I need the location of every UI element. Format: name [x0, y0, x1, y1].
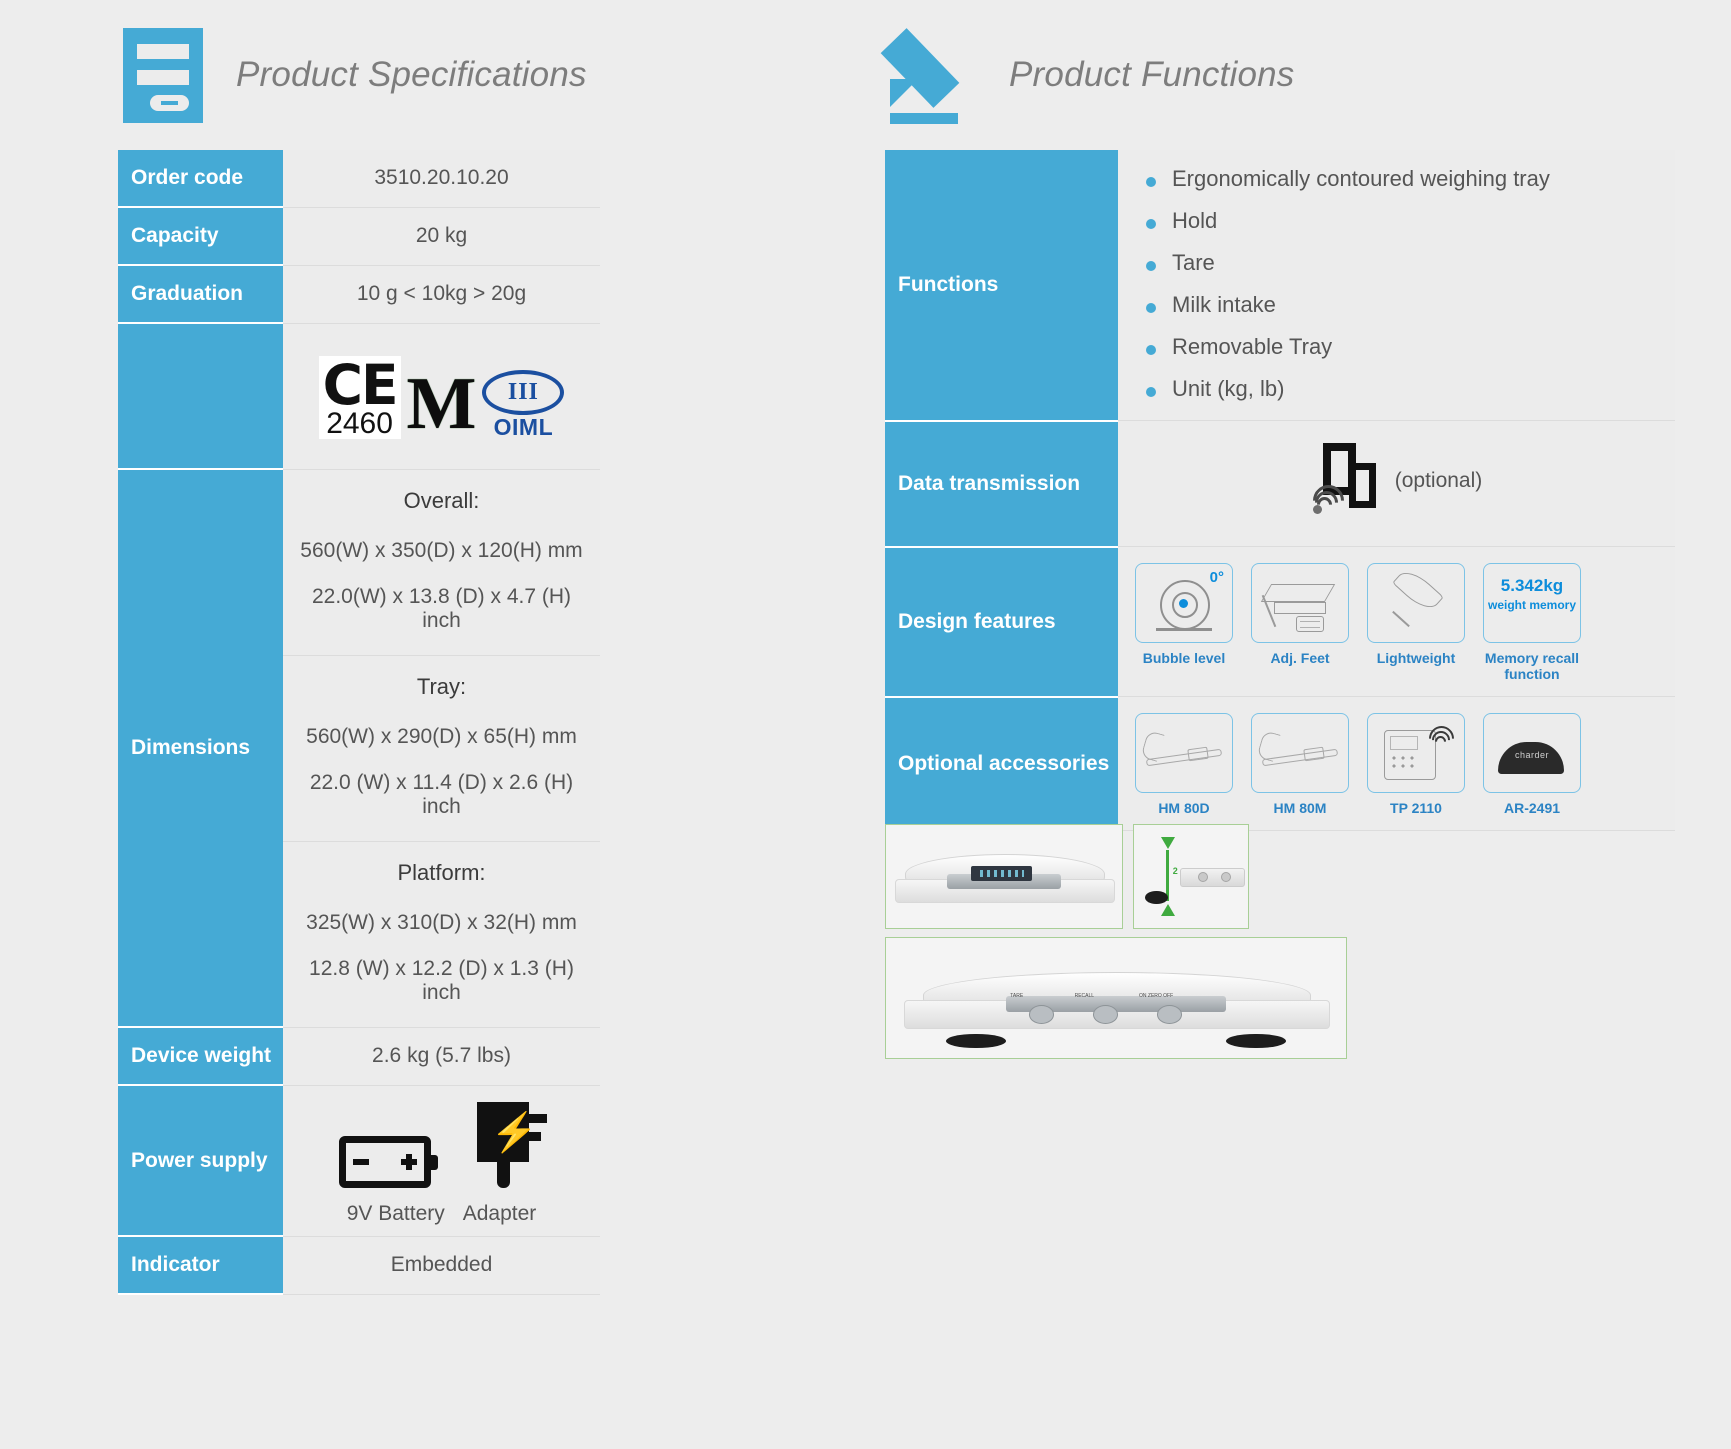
row-value-device-weight: 2.6 kg (5.7 lbs)	[283, 1027, 600, 1085]
row-value-capacity: 20 kg	[283, 207, 600, 265]
accessory-tp2110: TP 2110	[1364, 713, 1468, 816]
row-label-device-weight: Device weight	[118, 1027, 283, 1085]
table-row-functions: Functions Ergonomically contoured weighi…	[885, 150, 1675, 421]
functions-header: Product Functions	[885, 0, 1675, 150]
list-item: Ergonomically contoured weighing tray	[1138, 166, 1675, 192]
table-row-data-transmission: Data transmission (optional)	[885, 421, 1675, 547]
row-value-indicator: Embedded	[283, 1236, 600, 1294]
row-value-graduation: 10 g < 10kg > 20g	[283, 265, 600, 323]
memory-weight-sub: weight memory	[1484, 598, 1580, 613]
page-title: Product Specifications	[236, 55, 587, 95]
product-functions-panel: Product Functions Functions Ergonomicall…	[885, 0, 1675, 832]
row-label-functions: Functions	[885, 150, 1118, 421]
functions-title: Product Functions	[1009, 55, 1295, 95]
row-label-graduation: Graduation	[118, 265, 283, 323]
certification-marks-cell: CE 2460 M III OIML	[283, 323, 600, 469]
scale-side-view-photo	[885, 824, 1123, 929]
accessory-hm80d: HM 80D	[1132, 713, 1236, 816]
measuring-rod-icon	[1135, 713, 1233, 793]
button-label-tare: TARE	[1010, 993, 1023, 999]
data-transmission-cell: (optional)	[1118, 421, 1675, 547]
functions-list-cell: Ergonomically contoured weighing tray Ho…	[1118, 150, 1675, 421]
pen-edit-icon	[890, 28, 976, 123]
product-sheet-page: Product Specifications Order code 3510.2…	[0, 0, 1731, 1449]
bubble-level-icon: 0°	[1135, 563, 1233, 643]
design-feature-adjustable-feet: Adj. Feet	[1248, 563, 1352, 682]
device-spec-icon	[123, 28, 203, 123]
list-item: Hold	[1138, 208, 1675, 234]
row-label-data-transmission: Data transmission	[885, 421, 1118, 547]
cover-brand-label: charder	[1484, 750, 1580, 760]
battery-label: 9V Battery	[347, 1202, 445, 1226]
product-photos: 2 cm TARE RECALL ON ZERO OFF	[885, 824, 1675, 1067]
specifications-header: Product Specifications	[118, 0, 838, 150]
scale-front-view-photo: TARE RECALL ON ZERO OFF	[885, 937, 1347, 1059]
optional-accessories-cell: HM 80D HM 80M	[1118, 697, 1675, 831]
list-item: Milk intake	[1138, 292, 1675, 318]
row-label-certification	[118, 323, 283, 469]
oiml-class-label: III	[482, 370, 564, 415]
row-label-design-features: Design features	[885, 547, 1118, 697]
list-item: Removable Tray	[1138, 334, 1675, 360]
row-label-dimensions: Dimensions	[118, 469, 283, 1027]
adapter-label: Adapter	[463, 1202, 537, 1226]
oiml-text-label: OIML	[482, 416, 564, 439]
measuring-rod-icon	[1251, 713, 1349, 793]
feather-lightweight-icon	[1367, 563, 1465, 643]
bubble-level-badge: 0°	[1210, 569, 1224, 586]
table-row: Order code 3510.20.10.20	[118, 150, 600, 207]
table-row: Capacity 20 kg	[118, 207, 600, 265]
product-specifications-panel: Product Specifications Order code 3510.2…	[118, 0, 838, 1295]
thermal-printer-icon	[1367, 713, 1465, 793]
ce-notified-body-number: 2460	[323, 409, 397, 439]
design-feature-bubble-level: 0° Bubble level	[1132, 563, 1236, 682]
memory-recall-icon: 5.342kg weight memory	[1483, 563, 1581, 643]
design-feature-lightweight: Lightweight	[1364, 563, 1468, 682]
metrology-m-icon: M	[407, 370, 477, 438]
design-feature-memory-recall: 5.342kg weight memory Memory recall func…	[1480, 563, 1584, 682]
dimensions-platform: Platform: 325(W) x 310(D) x 32(H) mm 12.…	[283, 841, 600, 1027]
design-features-cell: 0° Bubble level Adj. Feet	[1118, 547, 1675, 697]
specifications-table: Order code 3510.20.10.20 Capacity 20 kg …	[118, 150, 600, 1295]
accessory-ar2491: charder AR-2491	[1480, 713, 1584, 816]
list-item: Tare	[1138, 250, 1675, 276]
row-value-order-code: 3510.20.10.20	[283, 150, 600, 207]
list-item: Unit (kg, lb)	[1138, 376, 1675, 402]
table-row: Device weight 2.6 kg (5.7 lbs)	[118, 1027, 600, 1085]
table-row-power-supply: Power supply ⚡	[118, 1085, 600, 1236]
optional-label: (optional)	[1395, 469, 1483, 493]
row-label-order-code: Order code	[118, 150, 283, 207]
adjustable-feet-icon	[1251, 563, 1349, 643]
row-label-power-supply: Power supply	[118, 1085, 283, 1236]
functions-list: Ergonomically contoured weighing tray Ho…	[1118, 150, 1675, 420]
power-supply-cell: ⚡ 9V Battery Adapter	[283, 1085, 600, 1236]
button-label-recall: RECALL	[1075, 993, 1094, 999]
table-row-certification: CE 2460 M III OIML	[118, 323, 600, 469]
accessory-hm80m: HM 80M	[1248, 713, 1352, 816]
wireless-devices-icon	[1311, 443, 1389, 519]
button-label-on-zero-off: ON ZERO OFF	[1139, 993, 1173, 999]
table-row: Graduation 10 g < 10kg > 20g	[118, 265, 600, 323]
row-label-optional-accessories: Optional accessories	[885, 697, 1118, 831]
table-row-design-features: Design features 0° Bubble level	[885, 547, 1675, 697]
adjustable-foot-detail-photo: 2 cm	[1133, 824, 1249, 929]
dimensions-cell: Overall: 560(W) x 350(D) x 120(H) mm 22.…	[283, 469, 600, 1027]
table-row-optional-accessories: Optional accessories HM 80D	[885, 697, 1675, 831]
dimensions-tray: Tray: 560(W) x 290(D) x 65(H) mm 22.0 (W…	[283, 655, 600, 841]
oiml-mark-icon: III OIML	[482, 370, 564, 439]
functions-table: Functions Ergonomically contoured weighi…	[885, 150, 1675, 832]
table-row-dimensions: Dimensions Overall: 560(W) x 350(D) x 12…	[118, 469, 600, 1027]
scale-cover-icon: charder	[1483, 713, 1581, 793]
power-adapter-icon: ⚡	[471, 1102, 545, 1188]
table-row: Indicator Embedded	[118, 1236, 600, 1294]
row-label-capacity: Capacity	[118, 207, 283, 265]
memory-weight-value: 5.342kg	[1484, 576, 1580, 596]
row-label-indicator: Indicator	[118, 1236, 283, 1294]
ce-mark-icon: CE 2460	[319, 356, 401, 439]
dimensions-overall: Overall: 560(W) x 350(D) x 120(H) mm 22.…	[283, 470, 600, 655]
battery-icon	[339, 1136, 431, 1188]
